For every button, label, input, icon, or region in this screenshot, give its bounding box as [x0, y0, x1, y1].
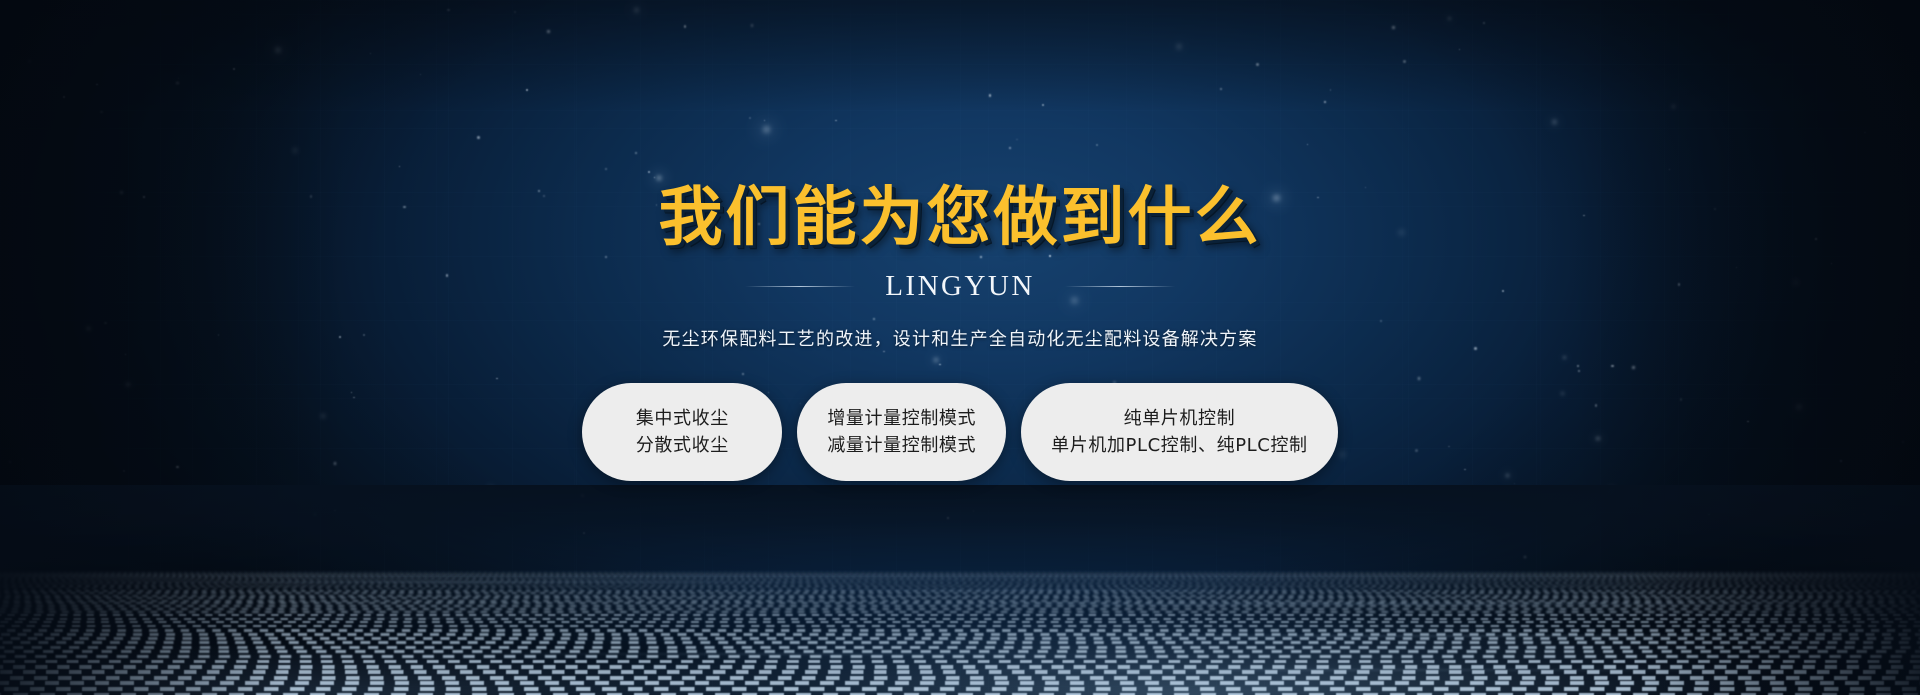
hero-banner: 我们能为您做到什么 LINGYUN 无尘环保配料工艺的改进，设计和生产全自动化无… [0, 0, 1920, 695]
pill-line-2: 单片机加PLC控制、纯PLC控制 [1051, 437, 1308, 455]
pill-line-1: 增量计量控制模式 [827, 410, 976, 428]
pill-line-1: 纯单片机控制 [1124, 410, 1236, 428]
divider-line-right [1065, 286, 1175, 287]
subtitle-row: LINGYUN [745, 270, 1175, 303]
pill-line-1: 集中式收尘 [636, 410, 729, 428]
pill-line-2: 减量计量控制模式 [827, 437, 976, 455]
pill-line-2: 分散式收尘 [636, 437, 729, 455]
page-title: 我们能为您做到什么 [659, 186, 1262, 250]
subtitle-english: LINGYUN [885, 270, 1035, 303]
banner-content: 我们能为您做到什么 LINGYUN 无尘环保配料工艺的改进，设计和生产全自动化无… [0, 0, 1920, 695]
feature-pill-dust-collection[interactable]: 集中式收尘 分散式收尘 [582, 383, 782, 481]
feature-pill-metering-mode[interactable]: 增量计量控制模式 减量计量控制模式 [797, 383, 1006, 481]
feature-pill-control-system[interactable]: 纯单片机控制 单片机加PLC控制、纯PLC控制 [1021, 383, 1338, 481]
divider-line-left [745, 286, 855, 287]
banner-description: 无尘环保配料工艺的改进，设计和生产全自动化无尘配料设备解决方案 [662, 325, 1257, 351]
feature-pill-group: 集中式收尘 分散式收尘 增量计量控制模式 减量计量控制模式 纯单片机控制 单片机… [582, 383, 1337, 481]
